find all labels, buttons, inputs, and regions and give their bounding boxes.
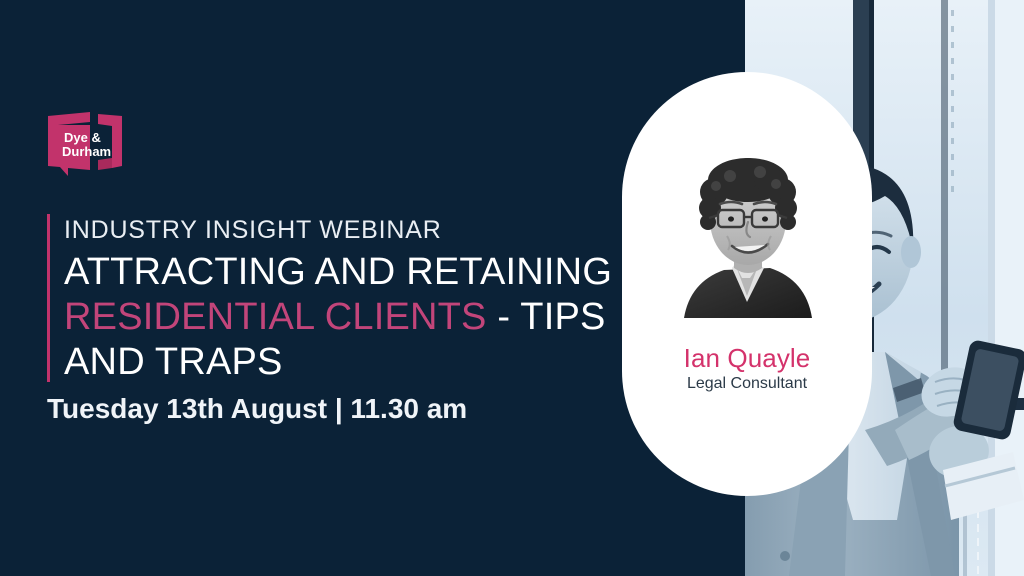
logo-text-line1: Dye & xyxy=(64,130,101,145)
avatar xyxy=(672,156,822,318)
brand-logo-icon: Dye & Durham xyxy=(44,110,126,176)
title-part-one: ATTRACTING AND RETAINING xyxy=(64,251,612,293)
webinar-promo-banner: Ian Quayle Legal Consultant Dye & Durham… xyxy=(0,0,1024,576)
dye-and-durham-logo[interactable]: Dye & Durham xyxy=(44,110,126,176)
speaker-name: Ian Quayle xyxy=(622,343,872,374)
headshot-photo xyxy=(672,156,822,318)
title-accent: RESIDENTIAL CLIENTS xyxy=(64,296,487,338)
accent-bar xyxy=(47,214,50,382)
speaker-role: Legal Consultant xyxy=(622,375,872,393)
event-datetime: Tuesday 13th August | 11.30 am xyxy=(47,393,467,425)
eyebrow-label: INDUSTRY INSIGHT WEBINAR xyxy=(64,216,442,245)
speaker-card: Ian Quayle Legal Consultant xyxy=(622,72,872,496)
page-title: ATTRACTING AND RETAINING RESIDENTIAL CLI… xyxy=(64,250,624,385)
logo-text-line2: Durham xyxy=(62,144,111,159)
